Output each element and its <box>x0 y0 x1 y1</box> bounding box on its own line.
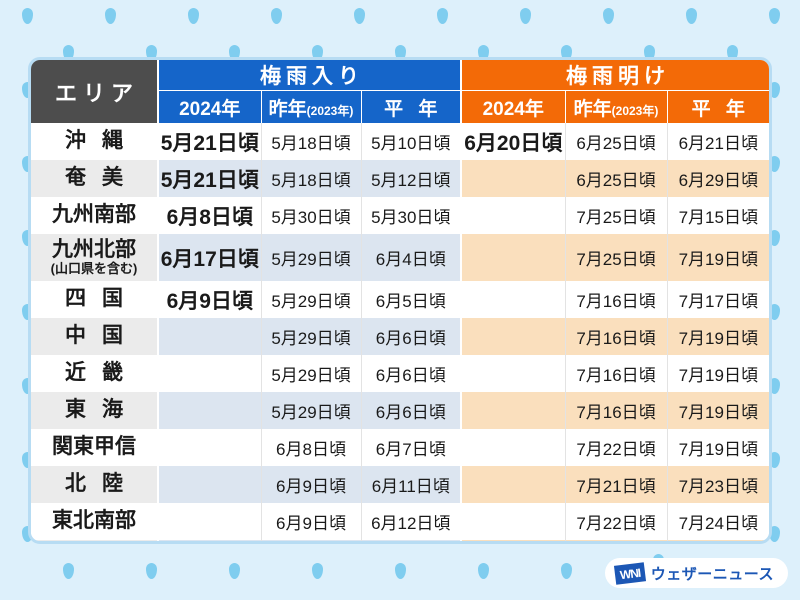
cell-ake-last-year: 7月16日頃 <box>565 318 667 355</box>
cell-ake-last-year: 7月25日頃 <box>565 234 667 281</box>
area-label: 中国 <box>49 325 139 347</box>
weathernews-logo-text: ウェザーニュース <box>651 563 774 584</box>
table-row: 九州南部6月8日頃5月30日頃5月30日頃7月25日頃7月15日頃 <box>31 197 769 234</box>
raindrop-icon <box>769 8 780 24</box>
header-iri-last-year-label: 昨年 <box>269 99 307 120</box>
header-iri-last-year-note: (2023年) <box>307 104 354 118</box>
cell-ake-average: 7月19日頃 <box>667 429 769 466</box>
table-row: 中国5月29日頃6月6日頃7月16日頃7月19日頃 <box>31 318 769 355</box>
cell-area: 北陸 <box>31 466 158 503</box>
cell-iri-2024: 5月21日頃 <box>158 123 261 160</box>
header-iri-2024: 2024年 <box>158 91 261 124</box>
cell-iri-average: 6月4日頃 <box>361 234 461 281</box>
cell-ake-last-year: 7月16日頃 <box>565 355 667 392</box>
cell-iri-2024 <box>158 540 261 544</box>
raindrop-icon <box>686 8 697 24</box>
cell-ake-average: 6月21日頃 <box>667 123 769 160</box>
raindrop-icon <box>312 563 323 579</box>
table-row: 九州北部(山口県を含む)6月17日頃5月29日頃6月4日頃7月25日頃7月19日… <box>31 234 769 281</box>
table-row: 奄美5月21日頃5月18日頃5月12日頃6月25日頃6月29日頃 <box>31 160 769 197</box>
cell-iri-2024: 5月21日頃 <box>158 160 261 197</box>
raindrop-icon <box>603 8 614 24</box>
cell-iri-2024 <box>158 392 261 429</box>
cell-ake-last-year: 7月16日頃 <box>565 392 667 429</box>
cell-iri-2024 <box>158 429 261 466</box>
cell-iri-last-year: 5月29日頃 <box>261 318 361 355</box>
table-row: 関東甲信6月8日頃6月7日頃7月22日頃7月19日頃 <box>31 429 769 466</box>
raindrop-icon <box>520 8 531 24</box>
cell-area: 近畿 <box>31 355 158 392</box>
header-iri-average-label: 平 年 <box>379 94 442 121</box>
raindrop-icon <box>478 563 489 579</box>
cell-area: 九州南部 <box>31 197 158 234</box>
cell-iri-last-year: 5月29日頃 <box>261 281 361 318</box>
cell-ake-2024: 6月20日頃 <box>461 123 565 160</box>
table-row: 東北南部6月9日頃6月12日頃7月22日頃7月24日頃 <box>31 503 769 540</box>
header-iri-2024-label: 2024年 <box>179 99 240 120</box>
raindrop-icon <box>22 8 33 24</box>
cell-ake-average: 7月28日頃 <box>667 540 769 544</box>
cell-ake-last-year: 7月21日頃 <box>565 466 667 503</box>
table-body: 沖縄5月21日頃5月18日頃5月10日頃6月20日頃6月25日頃6月21日頃奄美… <box>31 123 769 544</box>
cell-ake-2024 <box>461 234 565 281</box>
cell-ake-2024 <box>461 160 565 197</box>
cell-area: 九州北部(山口県を含む) <box>31 234 158 281</box>
cell-iri-average: 5月30日頃 <box>361 197 461 234</box>
raindrop-icon <box>354 8 365 24</box>
cell-area: 奄美 <box>31 160 158 197</box>
raindrop-icon <box>437 8 448 24</box>
area-label: 近畿 <box>49 362 139 384</box>
area-label: 東北南部 <box>52 509 136 532</box>
raindrop-icon <box>63 563 74 579</box>
cell-area: 沖縄 <box>31 123 158 160</box>
table-head: エリア 梅雨入り 梅雨明け 2024年 昨年(2023年) 平 年 2024年 <box>31 60 769 123</box>
cell-ake-2024 <box>461 392 565 429</box>
cell-area: 四国 <box>31 281 158 318</box>
wni-mark-icon: WNI <box>614 562 646 585</box>
cell-ake-average: 7月23日頃 <box>667 466 769 503</box>
area-label: 奄美 <box>49 167 139 189</box>
cell-iri-last-year: 6月8日頃 <box>261 429 361 466</box>
cell-iri-average: 6月6日頃 <box>361 392 461 429</box>
area-label: 九州南部 <box>52 203 136 226</box>
header-ake-2024: 2024年 <box>461 91 565 124</box>
cell-area: 東北北部 <box>31 540 158 544</box>
header-ake-2024-label: 2024年 <box>483 99 544 120</box>
header-group-tsuyuiri: 梅雨入り <box>158 60 461 91</box>
cell-iri-last-year: 6月9日頃 <box>261 540 361 544</box>
cell-iri-average: 5月12日頃 <box>361 160 461 197</box>
cell-iri-last-year: 6月9日頃 <box>261 466 361 503</box>
cell-area: 関東甲信 <box>31 429 158 466</box>
table-row: 北陸6月9日頃6月11日頃7月21日頃7月23日頃 <box>31 466 769 503</box>
cell-iri-last-year: 5月30日頃 <box>261 197 361 234</box>
cell-ake-last-year: 7月22日頃 <box>565 429 667 466</box>
table-row: 東北北部6月9日頃6月15日頃7月22日頃7月28日頃 <box>31 540 769 544</box>
cell-area: 中国 <box>31 318 158 355</box>
cell-ake-2024 <box>461 466 565 503</box>
rainy-season-table-card: エリア 梅雨入り 梅雨明け 2024年 昨年(2023年) 平 年 2024年 <box>28 57 772 544</box>
cell-iri-last-year: 5月18日頃 <box>261 123 361 160</box>
cell-iri-average: 6月6日頃 <box>361 318 461 355</box>
cell-iri-average: 6月6日頃 <box>361 355 461 392</box>
rainy-season-table: エリア 梅雨入り 梅雨明け 2024年 昨年(2023年) 平 年 2024年 <box>31 60 769 544</box>
cell-ake-2024 <box>461 355 565 392</box>
cell-iri-2024: 6月17日頃 <box>158 234 261 281</box>
raindrop-icon <box>105 8 116 24</box>
cell-ake-average: 7月19日頃 <box>667 355 769 392</box>
cell-iri-last-year: 6月9日頃 <box>261 503 361 540</box>
cell-iri-last-year: 5月29日頃 <box>261 355 361 392</box>
cell-iri-2024: 6月8日頃 <box>158 197 261 234</box>
raindrop-icon <box>561 563 572 579</box>
header-ake-last-year-note: (2023年) <box>612 104 659 118</box>
table-row: 四国6月9日頃5月29日頃6月5日頃7月16日頃7月17日頃 <box>31 281 769 318</box>
cell-iri-average: 6月7日頃 <box>361 429 461 466</box>
table-row: 東海5月29日頃6月6日頃7月16日頃7月19日頃 <box>31 392 769 429</box>
header-group-tsuyuake: 梅雨明け <box>461 60 769 91</box>
raindrop-icon <box>229 563 240 579</box>
raindrop-icon <box>395 563 406 579</box>
table-row: 沖縄5月21日頃5月18日頃5月10日頃6月20日頃6月25日頃6月21日頃 <box>31 123 769 160</box>
cell-iri-2024 <box>158 466 261 503</box>
cell-iri-average: 6月15日頃 <box>361 540 461 544</box>
cell-iri-average: 5月10日頃 <box>361 123 461 160</box>
cell-ake-average: 7月24日頃 <box>667 503 769 540</box>
cell-iri-last-year: 5月29日頃 <box>261 234 361 281</box>
cell-ake-last-year: 7月25日頃 <box>565 197 667 234</box>
cell-ake-last-year: 7月22日頃 <box>565 540 667 544</box>
cell-ake-average: 7月19日頃 <box>667 392 769 429</box>
header-ake-average-label: 平 年 <box>687 94 750 121</box>
header-iri-average: 平 年 <box>361 91 461 124</box>
raindrop-icon <box>146 563 157 579</box>
area-label: 北陸 <box>49 473 139 495</box>
cell-ake-average: 6月29日頃 <box>667 160 769 197</box>
cell-ake-2024 <box>461 503 565 540</box>
cell-iri-average: 6月11日頃 <box>361 466 461 503</box>
cell-iri-average: 6月12日頃 <box>361 503 461 540</box>
cell-ake-average: 7月19日頃 <box>667 234 769 281</box>
cell-ake-last-year: 7月16日頃 <box>565 281 667 318</box>
cell-area: 東海 <box>31 392 158 429</box>
area-label: 四国 <box>49 288 139 310</box>
header-iri-last-year: 昨年(2023年) <box>261 91 361 124</box>
cell-ake-average: 7月17日頃 <box>667 281 769 318</box>
cell-ake-2024 <box>461 281 565 318</box>
area-label: 沖縄 <box>49 130 139 152</box>
area-label: 九州北部 <box>52 238 136 261</box>
cell-ake-2024 <box>461 318 565 355</box>
header-group-row: エリア 梅雨入り 梅雨明け <box>31 60 769 91</box>
cell-ake-last-year: 7月22日頃 <box>565 503 667 540</box>
cell-ake-last-year: 6月25日頃 <box>565 123 667 160</box>
area-label: 関東甲信 <box>52 435 136 458</box>
cell-iri-last-year: 5月18日頃 <box>261 160 361 197</box>
header-ake-average: 平 年 <box>667 91 769 124</box>
raindrop-icon <box>271 8 282 24</box>
header-ake-last-year-label: 昨年 <box>574 99 612 120</box>
cell-ake-average: 7月19日頃 <box>667 318 769 355</box>
area-label: 東海 <box>49 399 139 421</box>
header-ake-last-year: 昨年(2023年) <box>565 91 667 124</box>
cell-ake-2024 <box>461 540 565 544</box>
cell-iri-last-year: 5月29日頃 <box>261 392 361 429</box>
cell-ake-average: 7月15日頃 <box>667 197 769 234</box>
cell-iri-2024 <box>158 503 261 540</box>
header-area: エリア <box>31 60 158 123</box>
cell-ake-last-year: 6月25日頃 <box>565 160 667 197</box>
raindrop-icon <box>188 8 199 24</box>
cell-iri-2024 <box>158 355 261 392</box>
cell-ake-2024 <box>461 429 565 466</box>
cell-iri-average: 6月5日頃 <box>361 281 461 318</box>
weathernews-logo[interactable]: WNI ウェザーニュース <box>605 558 788 588</box>
cell-ake-2024 <box>461 197 565 234</box>
cell-iri-2024: 6月9日頃 <box>158 281 261 318</box>
cell-area: 東北南部 <box>31 503 158 540</box>
cell-iri-2024 <box>158 318 261 355</box>
table-row: 近畿5月29日頃6月6日頃7月16日頃7月19日頃 <box>31 355 769 392</box>
area-sublabel: (山口県を含む) <box>31 262 157 276</box>
